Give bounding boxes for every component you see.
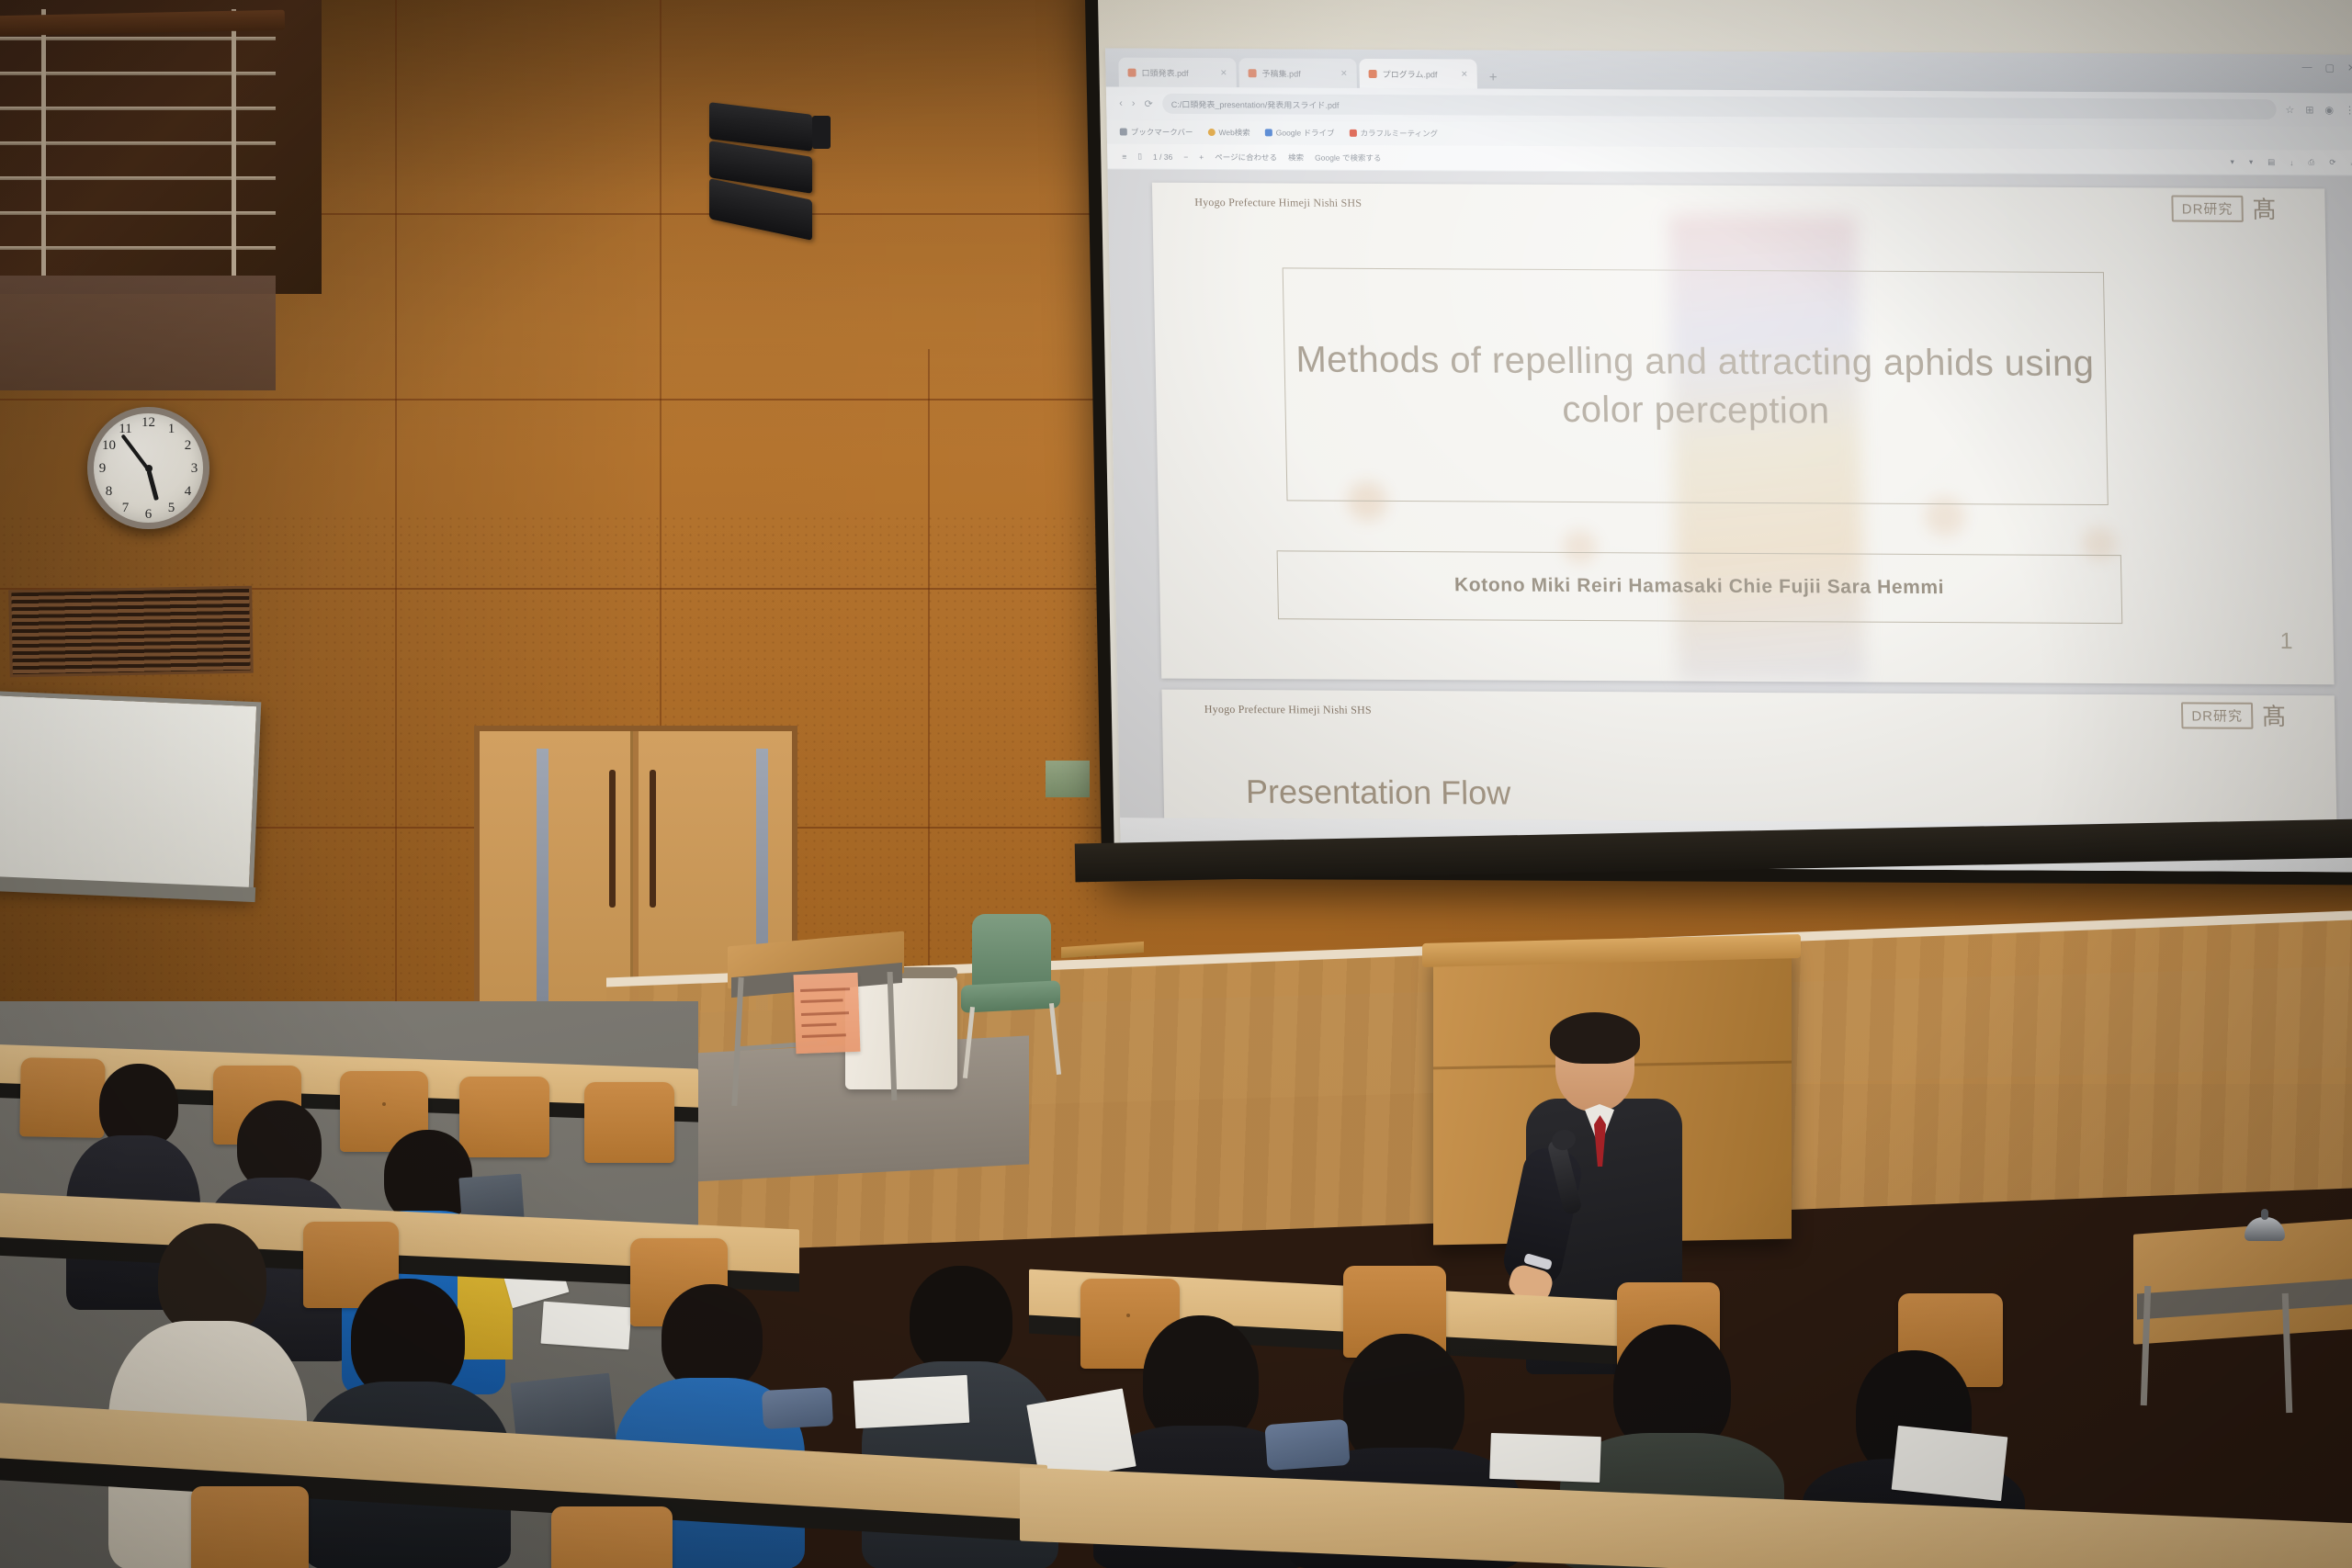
zoom-out-button[interactable]: −: [1183, 152, 1188, 161]
call-bell[interactable]: [2245, 1217, 2285, 1241]
clock-numeral: 4: [180, 484, 197, 500]
slide-page-number: 1: [2279, 628, 2292, 655]
tab-favicon-icon: [1249, 69, 1257, 77]
tab-label: 予稿集.pdf: [1261, 67, 1300, 79]
wall-vent: [8, 586, 254, 678]
slide-presentation-flow: Hyogo Prefecture Himeji Nishi SHS DR研究 髙…: [1161, 690, 2340, 825]
clock-numeral: 11: [118, 422, 134, 437]
pdf-slide-pane[interactable]: Hyogo Prefecture Himeji Nishi SHS DR研究 髙…: [1108, 169, 2352, 824]
slide-title: Methods of repelling and attracting aphi…: [1285, 335, 2107, 436]
bookmark-item[interactable]: Google ドライブ: [1265, 127, 1335, 138]
folder-icon: [1120, 129, 1127, 136]
slide-logo: DR研究 髙: [2171, 195, 2276, 222]
tab-close-icon[interactable]: ✕: [1340, 68, 1348, 78]
clock-numeral: 12: [141, 415, 157, 431]
close-icon[interactable]: ✕: [2347, 62, 2352, 74]
clock-numeral: 7: [118, 501, 134, 516]
window-controls[interactable]: — ▢ ✕: [2301, 62, 2352, 73]
projection-screen: 口頭発表.pdf ✕ 予稿集.pdf ✕ プログラム.pdf ✕ +: [1084, 0, 2352, 886]
notebook: [1489, 1433, 1601, 1483]
clock-numeral: 9: [95, 461, 111, 477]
minimize-icon[interactable]: —: [2301, 62, 2312, 73]
handout-papers: [541, 1302, 632, 1350]
slide-title-page: Hyogo Prefecture Himeji Nishi SHS DR研究 髙…: [1152, 183, 2335, 685]
wall-panel-green: [1046, 761, 1090, 797]
bookmark-label: Google ドライブ: [1276, 127, 1335, 138]
browser-tab-active[interactable]: プログラム.pdf ✕: [1359, 59, 1477, 89]
clock-numeral: 8: [101, 484, 118, 500]
slide-header: Hyogo Prefecture Himeji Nishi SHS: [1204, 703, 1372, 717]
slide-header: Hyogo Prefecture Himeji Nishi SHS: [1194, 196, 1362, 210]
presenter-hair: [1550, 1012, 1640, 1064]
bookmark-item[interactable]: Web検索: [1207, 127, 1250, 138]
window-blinds[interactable]: [0, 9, 276, 276]
profile-icon[interactable]: ◉: [2324, 104, 2334, 116]
chevron-down-icon[interactable]: ▾: [2230, 157, 2233, 167]
slide-flow-title: Presentation Flow: [1246, 773, 1511, 813]
layout-icon[interactable]: ▤: [2267, 157, 2275, 167]
slide-authors: Kotono Miki Reiri Hamasaki Chie Fujii Sa…: [1454, 575, 1945, 600]
omnibox-tools[interactable]: ☆ ⊞ ◉ ⋮: [2285, 104, 2352, 116]
emblem-icon: 髙: [2252, 197, 2277, 220]
call-bell-knob[interactable]: [2261, 1209, 2268, 1220]
download-icon[interactable]: ↓: [2290, 158, 2293, 167]
pencil-case: [762, 1387, 833, 1429]
clock-numeral: 6: [141, 507, 157, 523]
browser-tab[interactable]: 予稿集.pdf ✕: [1238, 58, 1357, 88]
wall-clock: 12 1 2 3 4 5 6 7 8 9 10 11: [87, 407, 209, 529]
browser-tab[interactable]: 口頭発表.pdf ✕: [1118, 58, 1237, 88]
slide-title-box: Methods of repelling and attracting aphi…: [1283, 267, 2109, 504]
clock-hour-hand: [146, 469, 158, 500]
browser-window[interactable]: 口頭発表.pdf ✕ 予稿集.pdf ✕ プログラム.pdf ✕ +: [1105, 48, 2352, 872]
new-tab-button[interactable]: +: [1480, 70, 1507, 89]
clock-numeral: 1: [164, 422, 180, 437]
ceiling-speaker-icon: [709, 108, 827, 230]
sidebar-toggle-icon[interactable]: ≡: [1122, 152, 1126, 161]
draw-label[interactable]: Google で検索する: [1315, 152, 1382, 163]
bookmark-item[interactable]: ブックマークバー: [1120, 127, 1193, 138]
extensions-icon[interactable]: ⊞: [2305, 104, 2313, 116]
tab-close-icon[interactable]: ✕: [1461, 69, 1468, 79]
bookmark-label: ブックマークバー: [1131, 127, 1193, 138]
slide-authors-box: Kotono Miki Reiri Hamasaki Chie Fujii Sa…: [1276, 550, 2122, 624]
forward-icon[interactable]: ›: [1132, 98, 1136, 109]
stage-chair-back[interactable]: [972, 914, 1051, 991]
reload-icon[interactable]: ⟳: [1144, 97, 1152, 109]
tab-label: 口頭発表.pdf: [1141, 66, 1188, 78]
menu-icon[interactable]: ⋮: [2345, 104, 2352, 116]
orange-notice-sign: [794, 973, 861, 1054]
pencil-case: [1264, 1419, 1350, 1471]
search-label[interactable]: 検索: [1288, 152, 1304, 163]
tab-favicon-icon: [1369, 69, 1377, 77]
fit-page-button[interactable]: ページに合わせる: [1215, 152, 1277, 163]
clock-center-pin: [145, 465, 153, 472]
bookmark-label: カラフルミーティング: [1360, 128, 1438, 139]
tab-close-icon[interactable]: ✕: [1220, 68, 1227, 78]
bookmark-label: Web検索: [1218, 127, 1250, 138]
tab-label: プログラム.pdf: [1383, 68, 1438, 80]
rotate-icon[interactable]: ⟳: [2329, 157, 2335, 167]
wall-plaster-band: [0, 276, 276, 390]
dr-logo-text: DR研究: [2171, 195, 2243, 221]
stage-chair-seat[interactable]: [961, 980, 1060, 1013]
clock-numeral: 5: [164, 501, 180, 516]
clock-numeral: 2: [180, 438, 197, 454]
back-icon[interactable]: ‹: [1119, 98, 1123, 109]
star-icon[interactable]: ☆: [2285, 104, 2294, 116]
whiteboard: [0, 691, 261, 897]
thumbnail-icon[interactable]: ▯: [1137, 152, 1142, 162]
address-text: C:/口頭発表_presentation/発表用スライド.pdf: [1171, 97, 1340, 110]
lecture-hall-scene: 12 1 2 3 4 5 6 7 8 9 10 11: [0, 0, 2352, 1568]
zoom-in-button[interactable]: +: [1199, 152, 1204, 161]
drive-icon: [1265, 129, 1272, 136]
clock-numeral: 10: [101, 438, 118, 454]
chevron-down-icon-2[interactable]: ▾: [2249, 157, 2253, 167]
browser-tabstrip[interactable]: 口頭発表.pdf ✕ 予稿集.pdf ✕ プログラム.pdf ✕ +: [1105, 48, 2352, 93]
maximize-icon[interactable]: ▢: [2324, 62, 2335, 73]
slide-logo: DR研究 髙: [2181, 702, 2286, 729]
emblem-icon: 髙: [2262, 704, 2287, 728]
address-input[interactable]: C:/口頭発表_presentation/発表用スライド.pdf: [1162, 94, 2277, 119]
dr-logo-text: DR研究: [2181, 702, 2253, 728]
print-icon[interactable]: ⎙: [2308, 157, 2314, 167]
page-indicator: 1 / 36: [1153, 152, 1172, 161]
bookmark-item[interactable]: カラフルミーティング: [1349, 128, 1438, 140]
tab-favicon-icon: [1127, 68, 1136, 76]
projection-surface: 口頭発表.pdf ✕ 予稿集.pdf ✕ プログラム.pdf ✕ +: [1097, 0, 2352, 873]
meeting-icon: [1349, 130, 1356, 137]
handout-papers: [854, 1375, 970, 1428]
air-purifier: [845, 974, 957, 1089]
globe-icon: [1207, 129, 1215, 136]
pdf-toolbar-right[interactable]: ▾ ▾ ▤ ↓ ⎙ ⟳ ⤓: [2230, 157, 2352, 168]
handout-papers: [1892, 1426, 2008, 1501]
clock-numeral: 3: [187, 461, 203, 477]
